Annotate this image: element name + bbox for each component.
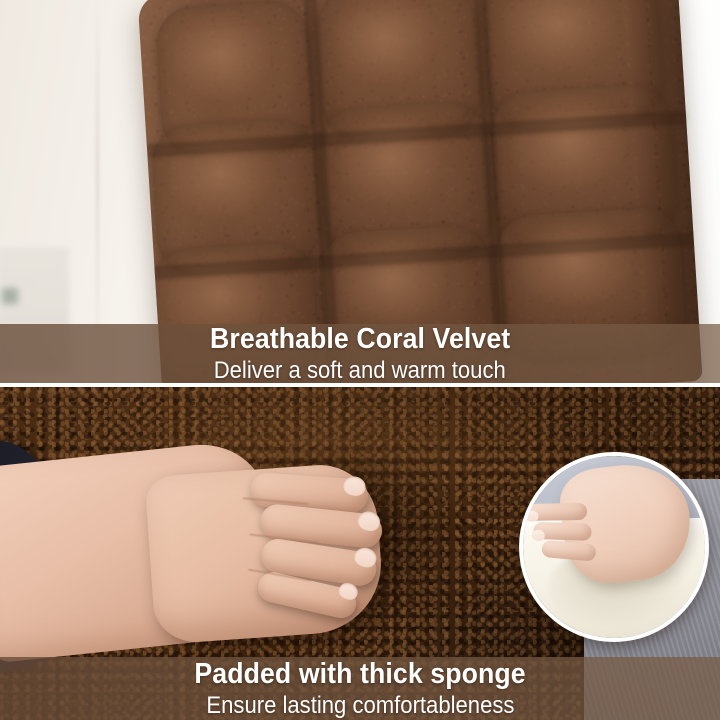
product-feature-image: Breathable Coral Velvet Deliver a soft a… [0, 0, 720, 720]
foam-sponge-inset [519, 452, 709, 642]
bottom-subline: Ensure lasting comfortableness [206, 694, 514, 718]
panel-divider [0, 383, 720, 387]
top-subline: Deliver a soft and warm touch [214, 359, 506, 383]
bottom-headline: Padded with thick sponge [194, 660, 525, 689]
bottom-caption-band: Padded with thick sponge Ensure lasting … [0, 657, 720, 720]
inset-fingernail [525, 510, 539, 522]
top-caption-band: Breathable Coral Velvet Deliver a soft a… [0, 324, 720, 383]
wall-seam [96, 0, 99, 330]
top-panel-velvet-chair: Breathable Coral Velvet Deliver a soft a… [0, 0, 720, 384]
hand-pressing-fabric [144, 461, 385, 645]
top-headline: Breathable Coral Velvet [210, 325, 510, 354]
